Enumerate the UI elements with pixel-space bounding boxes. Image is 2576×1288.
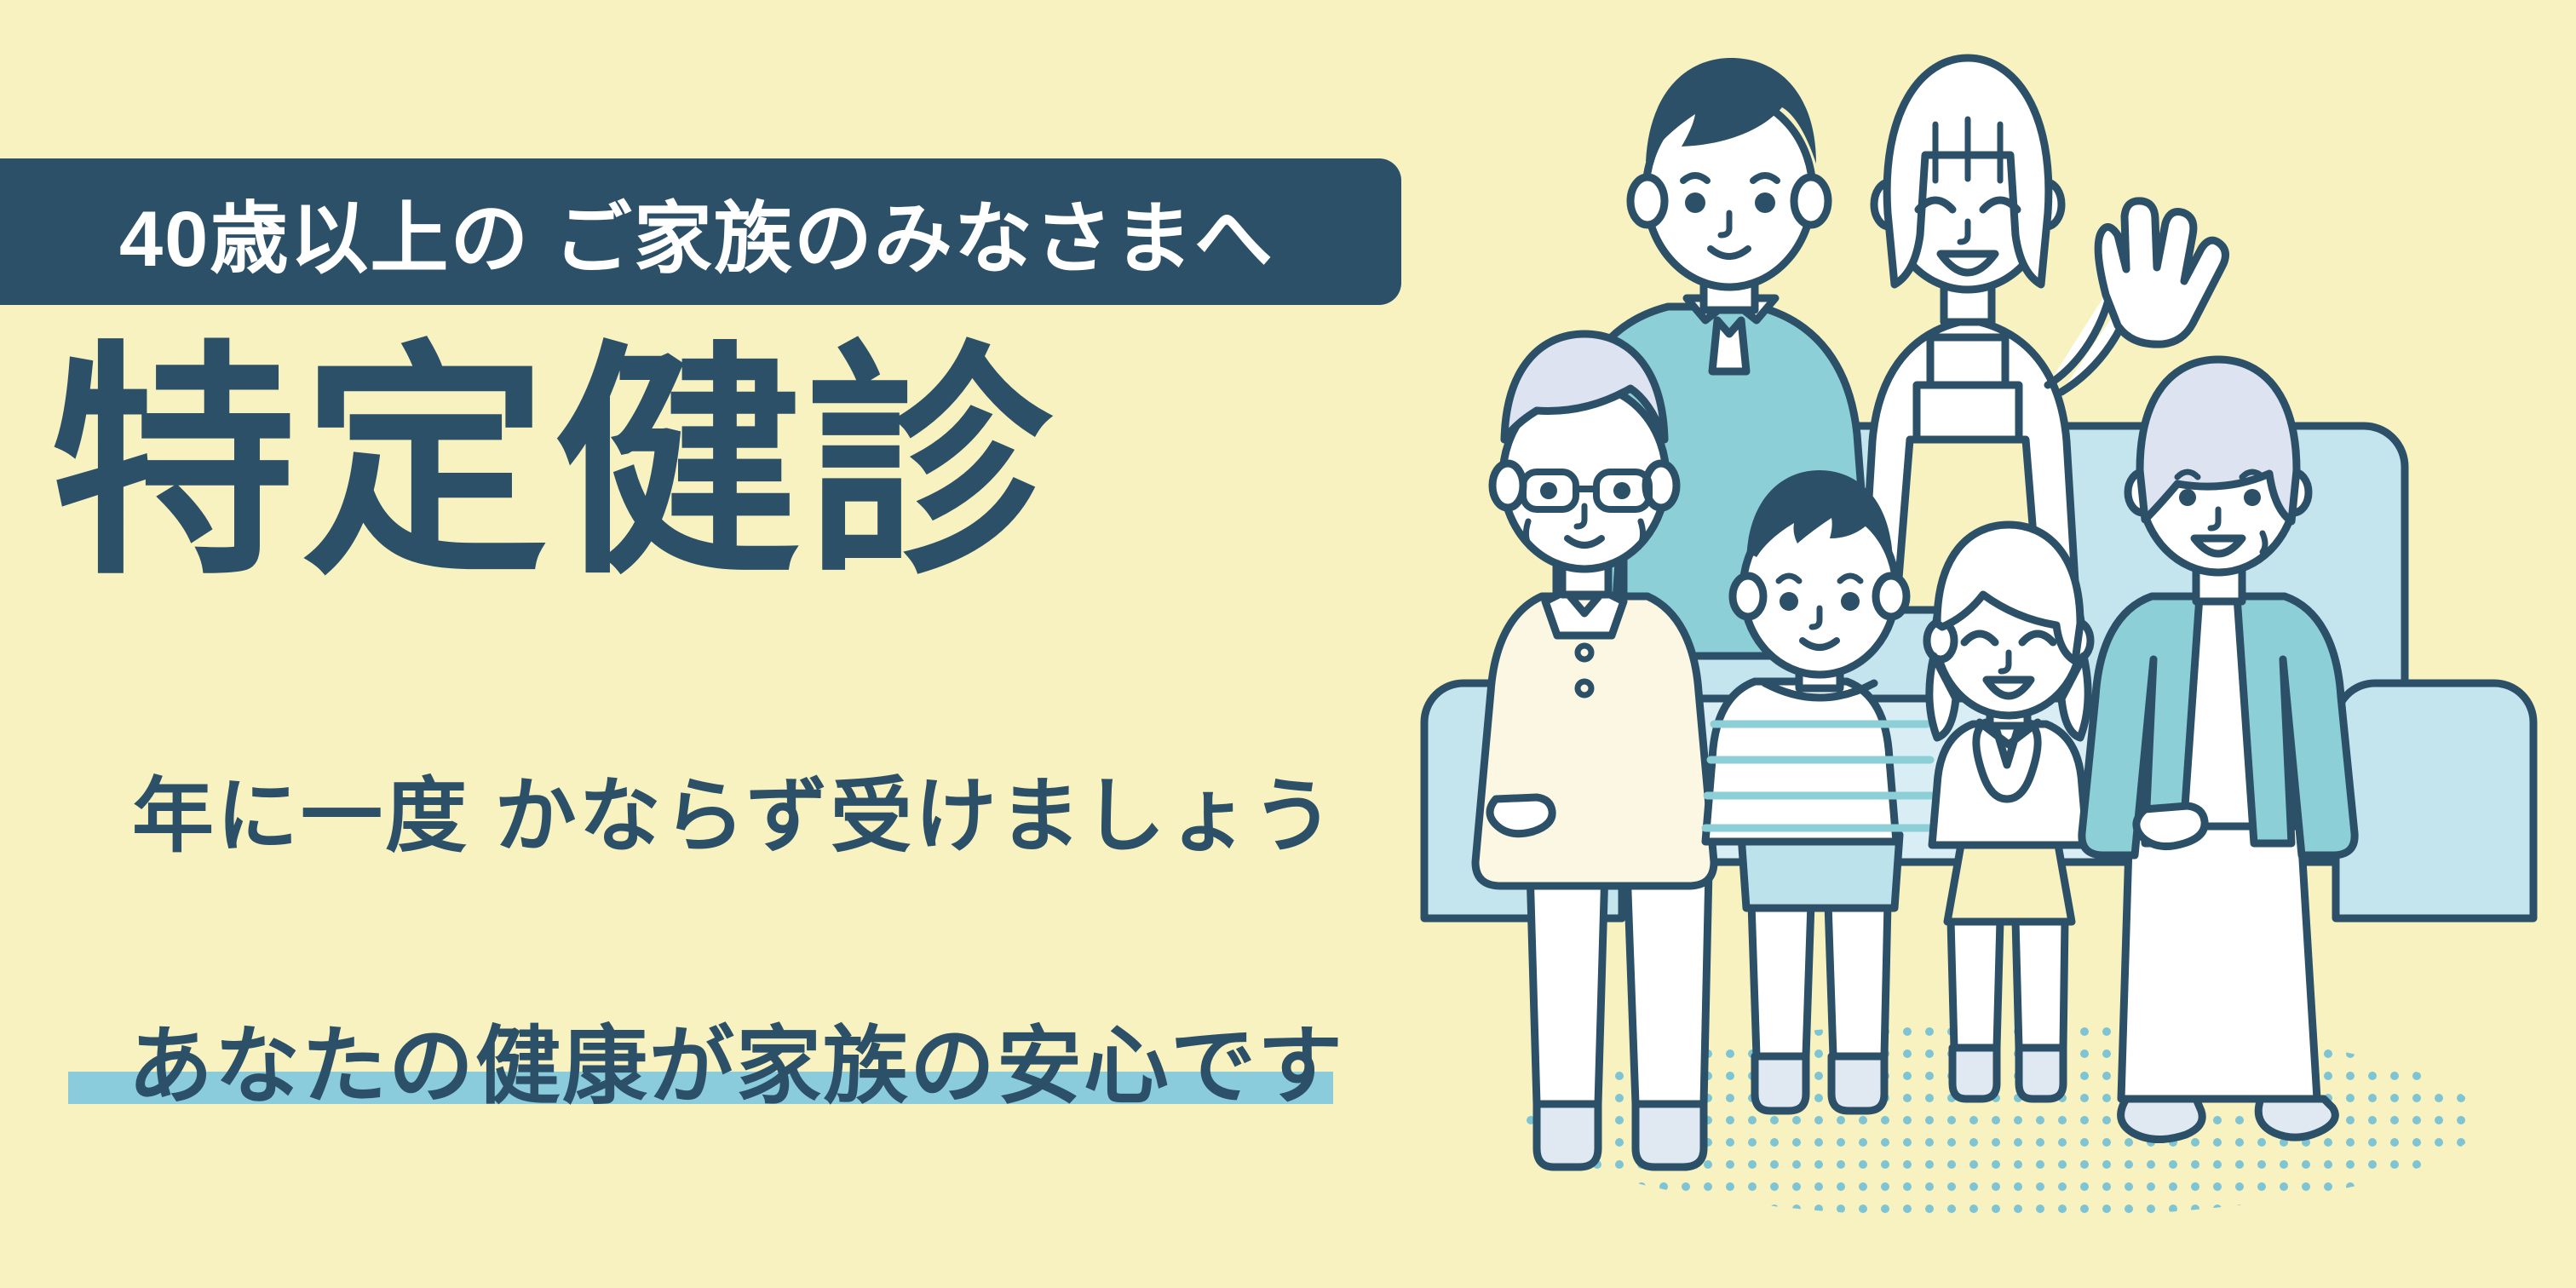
eyebrow-banner: 40歳以上の ご家族のみなさまへ [0,158,1401,305]
poster-root: 40歳以上の ご家族のみなさまへ 特定健診 年に一度 かならず受けましょう あな… [0,0,2576,1288]
tagline-block: あなたの健康が家族の安心です [68,997,1346,1116]
subheadline: 年に一度 かならず受けましょう [132,750,1337,868]
tagline-text: あなたの健康が家族の安心です [128,997,1344,1120]
family-illustration [1414,51,2576,1244]
eyebrow-text: 40歳以上の ご家族のみなさまへ [119,175,1274,289]
figure-girl [1927,525,2090,1099]
page-title: 特定健診 [49,341,1058,588]
